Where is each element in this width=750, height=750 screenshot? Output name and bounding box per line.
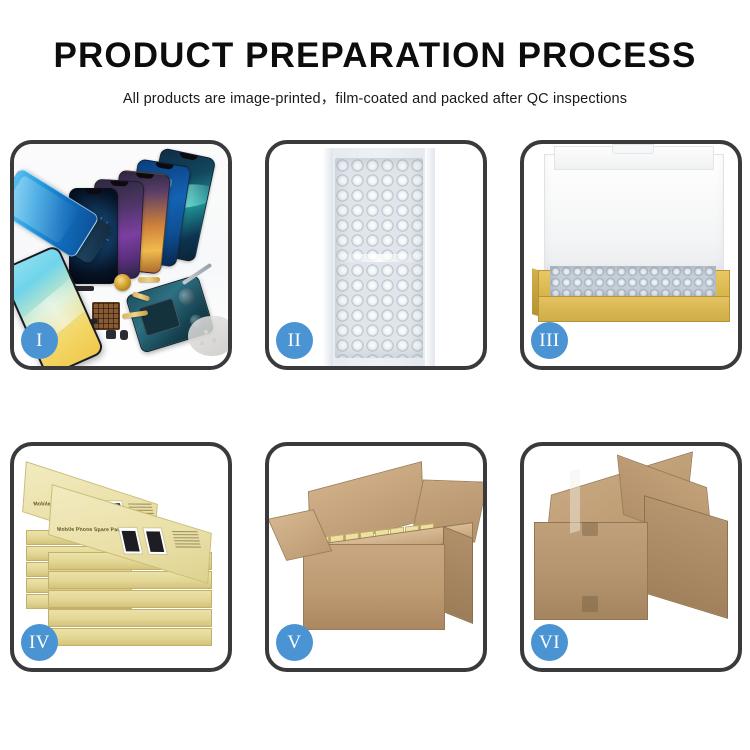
wrap-sheen xyxy=(335,254,423,262)
page-title: PRODUCT PREPARATION PROCESS xyxy=(0,0,750,76)
phone-notch-icon xyxy=(179,152,198,161)
coil-part-icon xyxy=(114,274,131,291)
process-step-panel-6[interactable]: VI xyxy=(520,442,742,672)
screen-glass-icon xyxy=(122,530,140,551)
process-step-panel-2[interactable]: II xyxy=(265,140,487,370)
stacked-box-item xyxy=(48,628,212,646)
phone-notch-icon xyxy=(155,162,174,170)
box-screen-image xyxy=(142,527,168,555)
process-step-panel-1[interactable]: I xyxy=(10,140,232,370)
wrap-edge-right xyxy=(425,148,435,366)
process-step-panel-4[interactable]: Mobile Phone Spare Parts Mobile Phone Sp… xyxy=(10,442,232,672)
bubble-wrapped-contents-icon xyxy=(550,266,716,296)
step-badge-1: I xyxy=(21,322,58,359)
box-lid-icon xyxy=(544,154,724,276)
step-badge-5: V xyxy=(276,624,313,661)
carton-seam-icon xyxy=(582,596,598,612)
camera-lens-icon xyxy=(177,286,198,307)
screen-glass-icon xyxy=(146,531,164,552)
carton-body-icon xyxy=(303,544,445,630)
step-badge-2: II xyxy=(276,322,313,359)
stacked-box-item xyxy=(48,590,212,608)
box-base-front-icon xyxy=(538,296,730,322)
process-step-panel-3[interactable]: III xyxy=(520,140,742,370)
step-badge-3: III xyxy=(531,322,568,359)
battery-icon xyxy=(138,298,181,337)
wrap-edge-left xyxy=(323,148,333,366)
stacked-box-item xyxy=(48,609,212,627)
hand-icon xyxy=(188,316,228,356)
phone-notch-icon xyxy=(110,181,128,187)
phone-notch-icon xyxy=(136,172,154,179)
carton-side-icon xyxy=(443,526,473,624)
chip-grid-part-icon xyxy=(92,302,120,330)
phone-notch-icon xyxy=(85,189,103,194)
box-lid-tab-icon xyxy=(612,144,654,154)
box-spec-lines xyxy=(172,531,201,550)
chip-part-icon xyxy=(120,330,128,340)
bubble-wrap-sleeve-icon xyxy=(323,148,435,366)
page-subtitle: All products are image-printed，film-coat… xyxy=(0,76,750,108)
step-badge-4: IV xyxy=(21,624,58,661)
box-screen-image xyxy=(118,527,144,555)
page-header: PRODUCT PREPARATION PROCESS All products… xyxy=(0,0,750,128)
process-step-grid: I II III xyxy=(10,140,742,682)
step-badge-6: VI xyxy=(531,624,568,661)
carton-tape-icon xyxy=(570,468,580,533)
bubble-texture-icon xyxy=(335,158,423,358)
box-product-label: Mobile Phone Spare Parts xyxy=(57,527,126,534)
chip-part-icon xyxy=(106,330,116,339)
process-step-panel-5[interactable]: V xyxy=(265,442,487,672)
carton-seam-icon xyxy=(582,522,598,536)
carton-right-face xyxy=(644,495,728,619)
flex-cable-icon xyxy=(138,277,160,282)
